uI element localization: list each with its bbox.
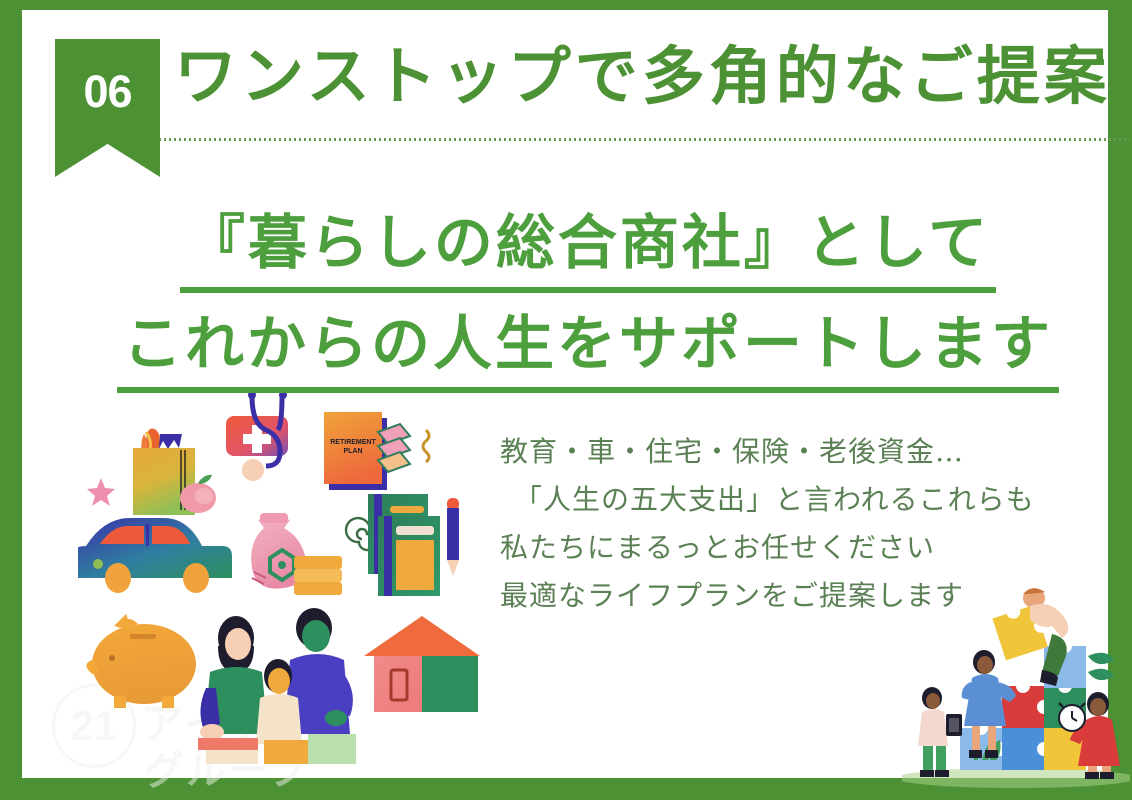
pen-icon [447,498,459,576]
header-dotted-divider [74,138,1130,141]
house-cards [378,424,410,472]
section-heading: ワンストップで多角的なご提案を [174,46,1132,109]
svg-text:PLAN: PLAN [343,448,362,455]
coins-icon [294,556,342,595]
body-copy: 教育・車・住宅・保険・老後資金… 「人生の五大支出」と言われるこれらも 私たちに… [500,428,1035,621]
family-icon [198,608,356,764]
section-number: 06 [55,39,160,144]
retirement-plan-book-icon: RETIREMENT PLAN [324,412,429,490]
body-line-2: 「人生の五大支出」と言われるこれらも [500,476,1035,524]
slide-frame: RETIREMENT PLAN [0,0,1132,800]
books-icon [368,494,440,596]
body-line-4: 最適なライフプランをご提案します [500,572,1035,620]
piggy-bank-icon [86,614,196,708]
life-expenses-illustration: RETIREMENT PLAN [78,388,498,788]
body-line-3: 私たちにまるっとお任せください [500,524,1035,572]
grocery-bag-icon [133,432,216,515]
main-title-line2: これからの人生をサポートします [117,307,1059,394]
svg-text:RETIREMENT: RETIREMENT [330,439,376,446]
main-title: 『暮らしの総合商社』として これからの人生をサポートします [22,206,1132,393]
star-icon [87,478,115,506]
body-line-1: 教育・車・住宅・保険・老後資金… [500,428,1035,476]
slide-inner-panel: RETIREMENT PLAN [22,10,1108,778]
house-icon [364,616,480,712]
main-title-line1: 『暮らしの総合商社』として [180,206,996,293]
car-icon [78,518,232,593]
person-with-clipboard [918,687,962,777]
